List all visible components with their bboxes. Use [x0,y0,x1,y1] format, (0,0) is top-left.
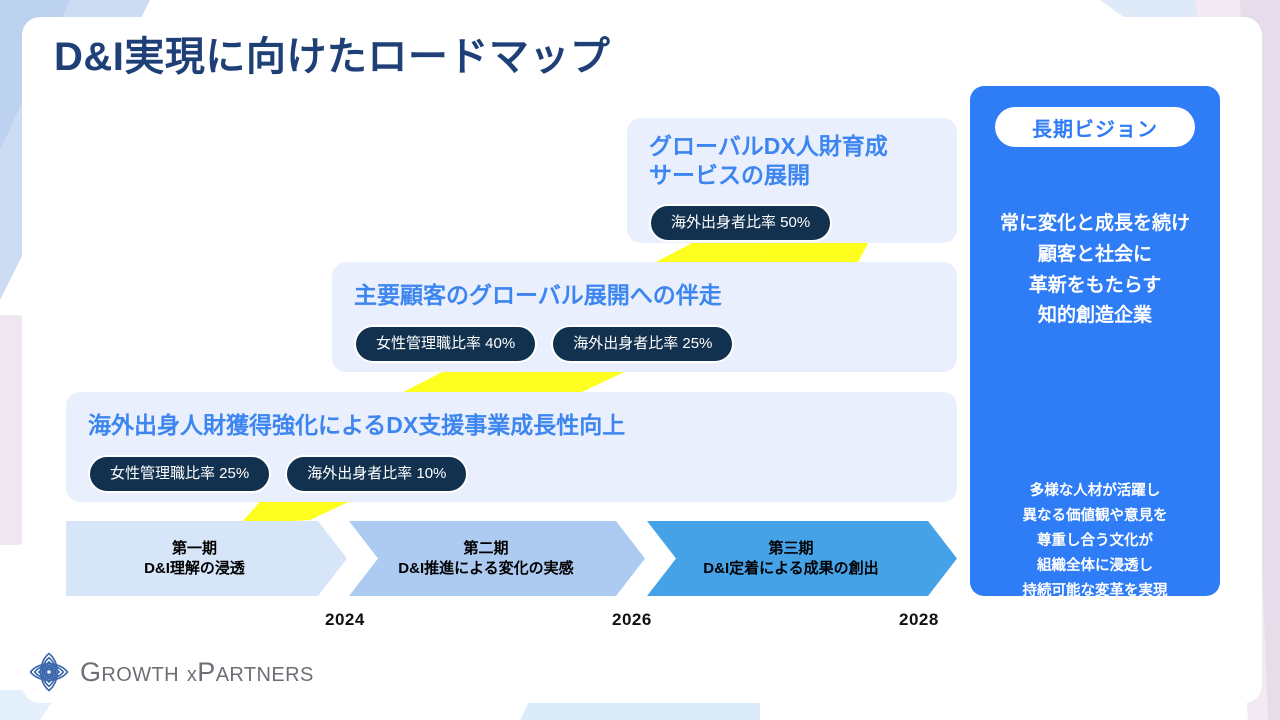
roadmap-card-phase3: グローバルDX人財育成 サービスの展開 海外出身者比率 50% [627,118,957,243]
kpi-badge: 海外出身者比率 50% [649,204,832,242]
year-label: 2024 [325,610,365,630]
kpi-badge: 海外出身者比率 25% [551,325,734,363]
logo-word-p: P [197,657,215,687]
kpi-badge: 女性管理職比率 25% [88,455,271,493]
logo-word-rowth: ROWTH [101,664,179,686]
company-logo: GROWTH xPARTNERS [28,651,314,693]
page-title: D&I実現に向けたロードマップ [54,33,610,81]
logo-wordmark: GROWTH xPARTNERS [80,659,314,686]
phase-chevron-2: 第二期 D&I推進による変化の実感 [349,521,645,596]
vision-main-text: 常に変化と成長を続け 顧客と社会に 革新をもたらす 知的創造企業 [970,209,1220,332]
roadmap-card-badges: 女性管理職比率 25% 海外出身者比率 10% [88,455,468,493]
logo-word-x: x [187,664,197,686]
growth-xpartners-mark-icon [28,651,70,693]
roadmap-card-badges: 海外出身者比率 50% [649,204,832,242]
roadmap-card-title: グローバルDX人財育成 サービスの展開 [649,132,888,191]
roadmap-card-badges: 女性管理職比率 40% 海外出身者比率 25% [354,325,734,363]
logo-word-artners: ARTNERS [216,664,314,686]
kpi-badge: 女性管理職比率 40% [354,325,537,363]
vision-pill-label: 長期ビジョン [995,107,1195,147]
phase-chevron-1: 第一期 D&I理解の浸透 [66,521,347,596]
roadmap-card-title: 海外出身人財獲得強化によるDX支援事業成長性向上 [88,411,625,440]
kpi-badge: 海外出身者比率 10% [285,455,468,493]
roadmap-card-phase2: 主要顧客のグローバル展開への伴走 女性管理職比率 40% 海外出身者比率 25% [332,262,957,372]
year-label: 2026 [612,610,652,630]
vision-sub-text: 多様な人材が活躍し 異なる価値観や意見を 尊重し合う文化が 組織全体に浸透し 持… [970,479,1220,604]
long-term-vision-panel: 長期ビジョン 常に変化と成長を続け 顧客と社会に 革新をもたらす 知的創造企業 … [970,86,1220,596]
roadmap-card-phase1: 海外出身人財獲得強化によるDX支援事業成長性向上 女性管理職比率 25% 海外出… [66,392,957,502]
slide-canvas: D&I実現に向けたロードマップ グローバルDX人財育成 サービスの展開 海外出身… [0,0,1280,720]
year-label: 2028 [899,610,939,630]
phase-chevron-3: 第三期 D&I定着による成果の創出 [647,521,957,596]
timeline-years: 2024 2026 2028 [66,610,957,634]
roadmap-card-title: 主要顧客のグローバル展開への伴走 [354,281,722,310]
phase-chevron-bar: 第一期 D&I理解の浸透 第二期 D&I推進による変化の実感 第三期 D&I定着… [66,521,957,596]
logo-word-g: G [80,657,101,687]
